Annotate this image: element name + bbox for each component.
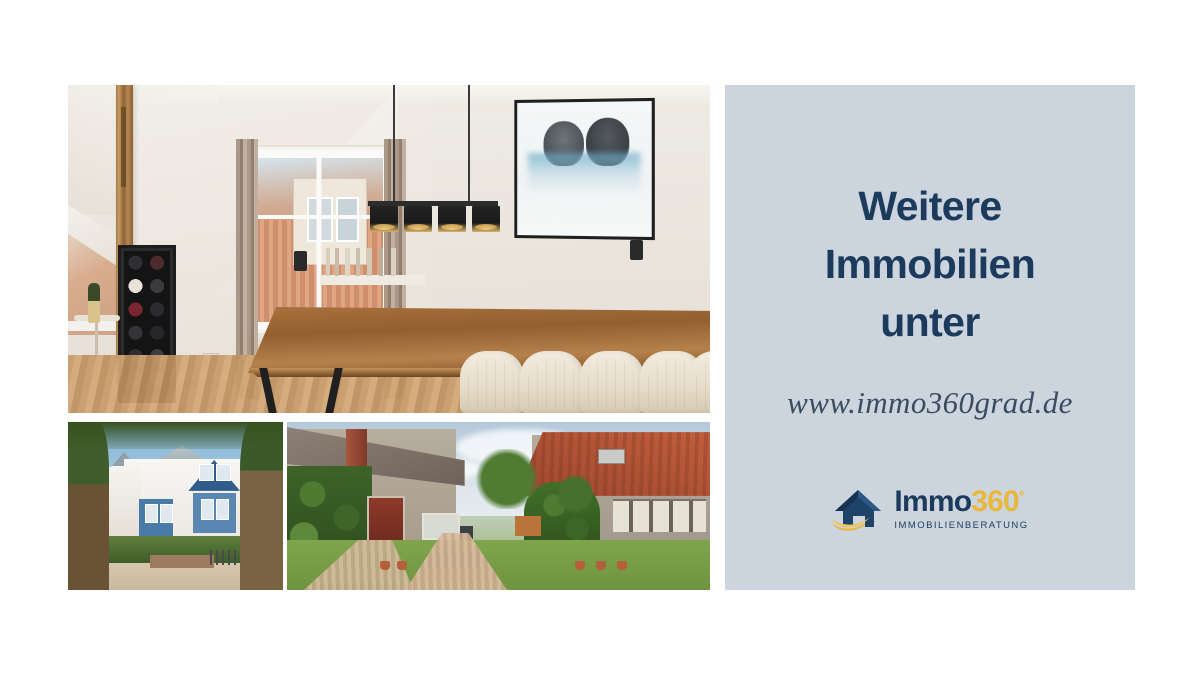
lamp-shade-4 bbox=[472, 206, 500, 232]
dining-chair bbox=[520, 351, 584, 413]
logo-tagline: IMMOBILIENBERATUNG bbox=[894, 521, 1028, 531]
villa-window bbox=[160, 504, 173, 523]
photo-villa-exterior bbox=[68, 422, 283, 590]
flower-pot bbox=[617, 561, 627, 570]
villa-window bbox=[216, 499, 229, 519]
page-title: Weitere Immobilien unter bbox=[725, 177, 1135, 352]
logo-text: Immo 360 ° IMMOBILIENBERATUNG bbox=[894, 487, 1028, 531]
villa-window bbox=[145, 504, 158, 523]
dormer-window bbox=[244, 147, 394, 333]
logo-wordmark: Immo 360 ° bbox=[894, 487, 1023, 517]
flower-pot bbox=[596, 561, 606, 570]
lamp-cord-right bbox=[468, 85, 470, 201]
lamp-shade-2 bbox=[404, 206, 432, 232]
artwork-base bbox=[517, 190, 652, 237]
tree-centre bbox=[473, 449, 541, 509]
logo-word-360: 360 bbox=[971, 487, 1019, 517]
villa-window bbox=[201, 499, 214, 519]
garden-wall bbox=[150, 555, 215, 568]
headline-line-3: unter bbox=[725, 293, 1135, 351]
orange-garden-wall bbox=[515, 516, 540, 536]
tree-background bbox=[558, 472, 592, 516]
neighbour-window-right bbox=[336, 197, 359, 242]
headline-line-1: Weitere bbox=[725, 177, 1135, 235]
company-logo: Immo 360 ° IMMOBILIENBERATUNG bbox=[725, 485, 1135, 533]
bottle-collection bbox=[323, 248, 423, 276]
flower-pot bbox=[575, 561, 585, 570]
tree-canopy bbox=[68, 422, 283, 449]
photo-courtyard bbox=[287, 422, 710, 590]
villa-blue-bay-right bbox=[193, 493, 236, 533]
photo-interior-dining-room bbox=[68, 85, 710, 413]
champagne-bottle bbox=[88, 283, 100, 323]
dining-chair bbox=[460, 351, 524, 413]
framed-artwork bbox=[514, 98, 654, 240]
info-panel: Weitere Immobilien unter www.immo360grad… bbox=[725, 85, 1135, 590]
dining-chair bbox=[580, 351, 644, 413]
villa-window bbox=[199, 464, 214, 481]
lamp-shade-3 bbox=[438, 206, 466, 232]
sideboard-shelf bbox=[320, 275, 425, 285]
wall-speaker-right bbox=[630, 240, 643, 260]
villa-turret bbox=[107, 466, 141, 547]
window-mullion-vertical bbox=[317, 150, 322, 330]
wall-speaker-left bbox=[294, 251, 307, 271]
website-url[interactable]: www.immo360grad.de bbox=[725, 385, 1135, 421]
roof-dormer-window bbox=[598, 449, 625, 464]
logo-degree-symbol: ° bbox=[1019, 489, 1024, 503]
headline-line-2: Immobilien bbox=[725, 235, 1135, 293]
logo-word-immo: Immo bbox=[894, 487, 971, 517]
slide-canvas: Weitere Immobilien unter www.immo360grad… bbox=[0, 0, 1200, 675]
artwork-blue-wash bbox=[528, 153, 641, 194]
house-roof-with-swoosh-icon bbox=[831, 485, 885, 533]
flower-pot bbox=[380, 561, 390, 570]
flower-pot bbox=[397, 561, 407, 570]
lamp-cord-left bbox=[393, 85, 395, 201]
villa-window bbox=[216, 464, 231, 481]
lamp-shade-1 bbox=[370, 206, 398, 232]
house-right-windows bbox=[613, 499, 706, 531]
